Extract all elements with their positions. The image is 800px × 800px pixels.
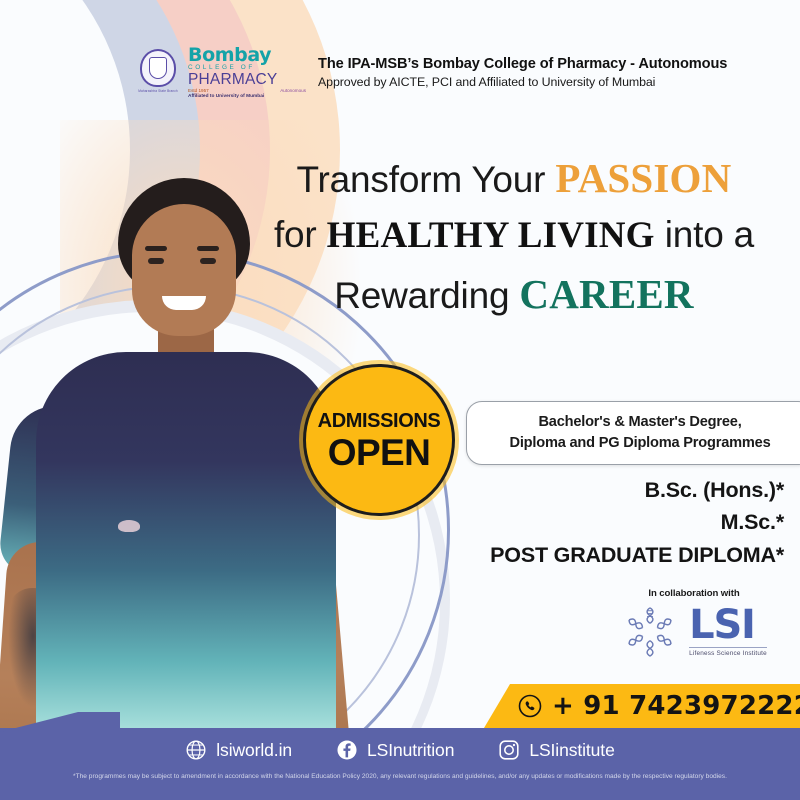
headline-career: CAREER xyxy=(519,271,693,317)
admissions-open-badge[interactable]: ADMISSIONS OPEN xyxy=(303,364,455,516)
collaboration-label: In collaboration with xyxy=(596,588,792,599)
degrees-list: B.Sc. (Hons.)* M.Sc.* POST GRADUATE DIPL… xyxy=(380,474,784,571)
logo-bombay: Bombay xyxy=(188,46,306,64)
headline-line3-plain: Rewarding xyxy=(334,275,519,316)
model-eyebrow-left xyxy=(145,246,167,251)
headline-line-2: for HEALTHY LIVING into a xyxy=(240,208,788,263)
globe-icon xyxy=(185,739,207,761)
lsi-full-name: Lifeness Science Institute xyxy=(689,647,767,657)
headline-line2-pre: for xyxy=(274,214,327,255)
social-link-website[interactable]: lsiworld.in xyxy=(185,739,292,761)
degree-item: M.Sc.* xyxy=(380,506,784,538)
disclaimer-text: *The programmes may be subject to amendm… xyxy=(60,772,740,783)
lsi-dna-ring-icon xyxy=(621,603,679,661)
state-branch-crest-icon: Maharashtra State Branch xyxy=(138,49,178,97)
headline-passion: PASSION xyxy=(555,155,731,201)
programmes-pill: Bachelor's & Master's Degree, Diploma an… xyxy=(466,401,800,465)
logo-autonomous: Autonomous xyxy=(280,88,306,94)
phone-number: + 91 7423972222 xyxy=(552,691,800,721)
institution-header: Maharashtra State Branch Bombay COLLEGE … xyxy=(138,46,727,100)
headline-line-1: Transform Your PASSION xyxy=(240,148,788,208)
model-eyebrow-right xyxy=(197,246,219,251)
phone-icon xyxy=(518,694,542,718)
instagram-label: LSIinstitute xyxy=(529,740,614,761)
model-tshirt xyxy=(36,352,336,772)
instagram-icon xyxy=(498,739,520,761)
headline-healthy-living: HEALTHY LIVING xyxy=(327,215,655,256)
lsi-brand: LSI xyxy=(689,607,767,643)
model-eye-left xyxy=(148,258,164,264)
website-label: lsiworld.in xyxy=(216,740,292,761)
phone-banner[interactable]: + 91 7423972222 xyxy=(484,684,800,728)
logo-estd: Estd 1957 xyxy=(188,88,209,94)
badge-admissions-label: ADMISSIONS xyxy=(318,410,441,433)
collaboration-block: In collaboration with xyxy=(596,588,792,661)
tshirt-logo-icon xyxy=(118,520,140,532)
social-link-facebook[interactable]: LSInutrition xyxy=(336,739,454,761)
degree-item: POST GRADUATE DIPLOMA* xyxy=(380,539,784,571)
logo-affiliation: Affiliated to University of Mumbai xyxy=(188,94,306,100)
institution-title: The IPA-MSB’s Bombay College of Pharmacy… xyxy=(318,56,727,72)
headline-block: Transform Your PASSION for HEALTHY LIVIN… xyxy=(240,148,788,324)
programmes-line-2: Diploma and PG Diploma Programmes xyxy=(483,433,797,454)
headline-line1-plain: Transform Your xyxy=(297,159,556,200)
footer-bar: lsiworld.in LSInutrition LSIinstitute *T… xyxy=(0,728,800,800)
headline-line-3: Rewarding CAREER xyxy=(240,264,788,324)
admissions-poster: Maharashtra State Branch Bombay COLLEGE … xyxy=(0,0,800,800)
crest-caption: Maharashtra State Branch xyxy=(138,89,178,93)
social-links: lsiworld.in LSInutrition LSIinstitute xyxy=(0,728,800,761)
model-face xyxy=(132,204,236,336)
institution-subtitle: Approved by AICTE, PCI and Affiliated to… xyxy=(318,75,727,89)
college-logo: Bombay COLLEGE OF PHARMACY Estd 1957 Aut… xyxy=(188,46,306,100)
programmes-line-1: Bachelor's & Master's Degree, xyxy=(483,412,797,433)
headline-line2-post: into a xyxy=(655,214,754,255)
logo-pharmacy: PHARMACY xyxy=(188,72,306,88)
facebook-label: LSInutrition xyxy=(367,740,454,761)
model-eye-right xyxy=(200,258,216,264)
social-link-instagram[interactable]: LSIinstitute xyxy=(498,739,614,761)
badge-open-label: OPEN xyxy=(328,434,430,471)
facebook-icon xyxy=(336,739,358,761)
